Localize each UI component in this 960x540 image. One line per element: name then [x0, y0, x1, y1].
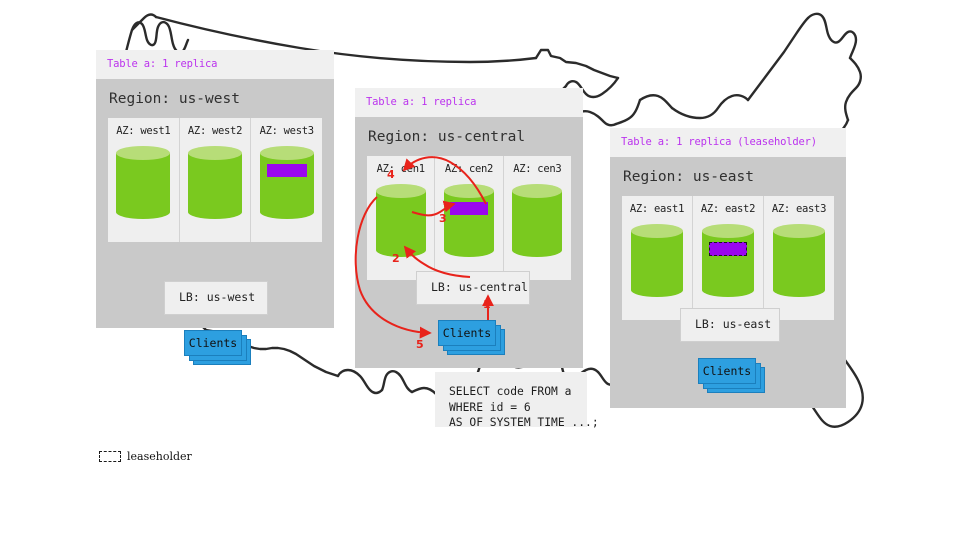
- cylinder-top: [702, 224, 754, 238]
- cylinder-cen1[interactable]: [376, 184, 426, 257]
- legend: leaseholder: [99, 450, 192, 463]
- az-label-east3: AZ: east3: [764, 203, 834, 215]
- cylinder-body: [444, 191, 494, 250]
- az-label-west1: AZ: west1: [108, 125, 179, 137]
- panel-title-us-west: Table a: 1 replica: [96, 50, 334, 79]
- az-cell-west1[interactable]: AZ: west1: [108, 118, 179, 242]
- clients-us-central[interactable]: Clients: [438, 320, 496, 346]
- az-row-us-west: AZ: west1 AZ: west2: [108, 118, 322, 242]
- cylinder-top: [631, 224, 683, 238]
- cylinder-top: [773, 224, 825, 238]
- lb-us-west[interactable]: LB: us-west: [164, 281, 268, 315]
- cylinder-west3[interactable]: [260, 146, 314, 219]
- lb-us-east[interactable]: LB: us-east: [680, 308, 780, 342]
- region-label-us-east: Region: us-east: [610, 157, 846, 196]
- cylinder-east3[interactable]: [773, 224, 825, 297]
- replica-east2-leaseholder[interactable]: [709, 242, 747, 256]
- cylinder-body: [512, 191, 562, 250]
- cylinder-body: [260, 153, 314, 212]
- az-label-cen1: AZ: cen1: [367, 163, 434, 175]
- cylinder-west1[interactable]: [116, 146, 170, 219]
- az-cell-east1[interactable]: AZ: east1: [622, 196, 692, 320]
- az-cell-west3[interactable]: AZ: west3: [250, 118, 322, 242]
- az-label-cen3: AZ: cen3: [504, 163, 571, 175]
- clients-label-us-east: Clients: [698, 358, 756, 384]
- az-label-west2: AZ: west2: [180, 125, 251, 137]
- az-label-east2: AZ: east2: [693, 203, 763, 215]
- cylinder-cen3[interactable]: [512, 184, 562, 257]
- az-cell-cen3[interactable]: AZ: cen3: [503, 156, 571, 280]
- region-label-us-west: Region: us-west: [96, 79, 334, 118]
- step-number-1: 1: [483, 298, 491, 311]
- clients-label-us-west: Clients: [184, 330, 242, 356]
- az-row-us-east: AZ: east1 AZ: east2: [622, 196, 834, 320]
- step-number-5: 5: [416, 338, 424, 351]
- az-label-east1: AZ: east1: [622, 203, 692, 215]
- clients-label-us-central: Clients: [438, 320, 496, 346]
- cylinder-body: [116, 153, 170, 212]
- az-label-cen2: AZ: cen2: [435, 163, 502, 175]
- cylinder-body: [188, 153, 242, 212]
- cylinder-top: [260, 146, 314, 160]
- cylinder-top: [444, 184, 494, 198]
- panel-title-us-east: Table a: 1 replica (leaseholder): [610, 128, 846, 157]
- cylinder-top: [188, 146, 242, 160]
- cylinder-top: [376, 184, 426, 198]
- cylinder-west2[interactable]: [188, 146, 242, 219]
- clients-us-east[interactable]: Clients: [698, 358, 756, 384]
- cylinder-cen2[interactable]: [444, 184, 494, 257]
- clients-us-west[interactable]: Clients: [184, 330, 242, 356]
- diagram-canvas: Table a: 1 replica Region: us-west AZ: w…: [0, 0, 960, 540]
- replica-west3[interactable]: [267, 164, 307, 177]
- step-number-3: 3: [439, 212, 447, 225]
- cylinder-east2[interactable]: [702, 224, 754, 297]
- step-number-2: 2: [392, 252, 400, 265]
- region-panel-us-east: Table a: 1 replica (leaseholder) Region:…: [610, 128, 846, 408]
- sql-statement-box: SELECT code FROM a WHERE id = 6 AS OF SY…: [435, 372, 587, 427]
- az-cell-east2[interactable]: AZ: east2: [692, 196, 763, 320]
- cylinder-body: [376, 191, 426, 250]
- az-label-west3: AZ: west3: [251, 125, 322, 137]
- legend-label: leaseholder: [127, 450, 192, 463]
- az-cell-east3[interactable]: AZ: east3: [763, 196, 834, 320]
- cylinder-body: [631, 231, 683, 290]
- replica-cen2[interactable]: [450, 202, 488, 215]
- cylinder-body: [702, 231, 754, 290]
- region-panel-us-west: Table a: 1 replica Region: us-west AZ: w…: [96, 50, 334, 328]
- az-cell-west2[interactable]: AZ: west2: [179, 118, 251, 242]
- region-panel-us-central: Table a: 1 replica Region: us-central AZ…: [355, 88, 583, 368]
- dashed-rect-icon: [99, 451, 121, 462]
- step-number-4: 4: [387, 168, 395, 181]
- lb-us-central[interactable]: LB: us-central: [416, 271, 530, 305]
- az-cell-cen1[interactable]: AZ: cen1: [367, 156, 434, 280]
- panel-title-us-central: Table a: 1 replica: [355, 88, 583, 117]
- cylinder-east1[interactable]: [631, 224, 683, 297]
- cylinder-body: [773, 231, 825, 290]
- cylinder-top: [512, 184, 562, 198]
- region-label-us-central: Region: us-central: [355, 117, 583, 156]
- cylinder-top: [116, 146, 170, 160]
